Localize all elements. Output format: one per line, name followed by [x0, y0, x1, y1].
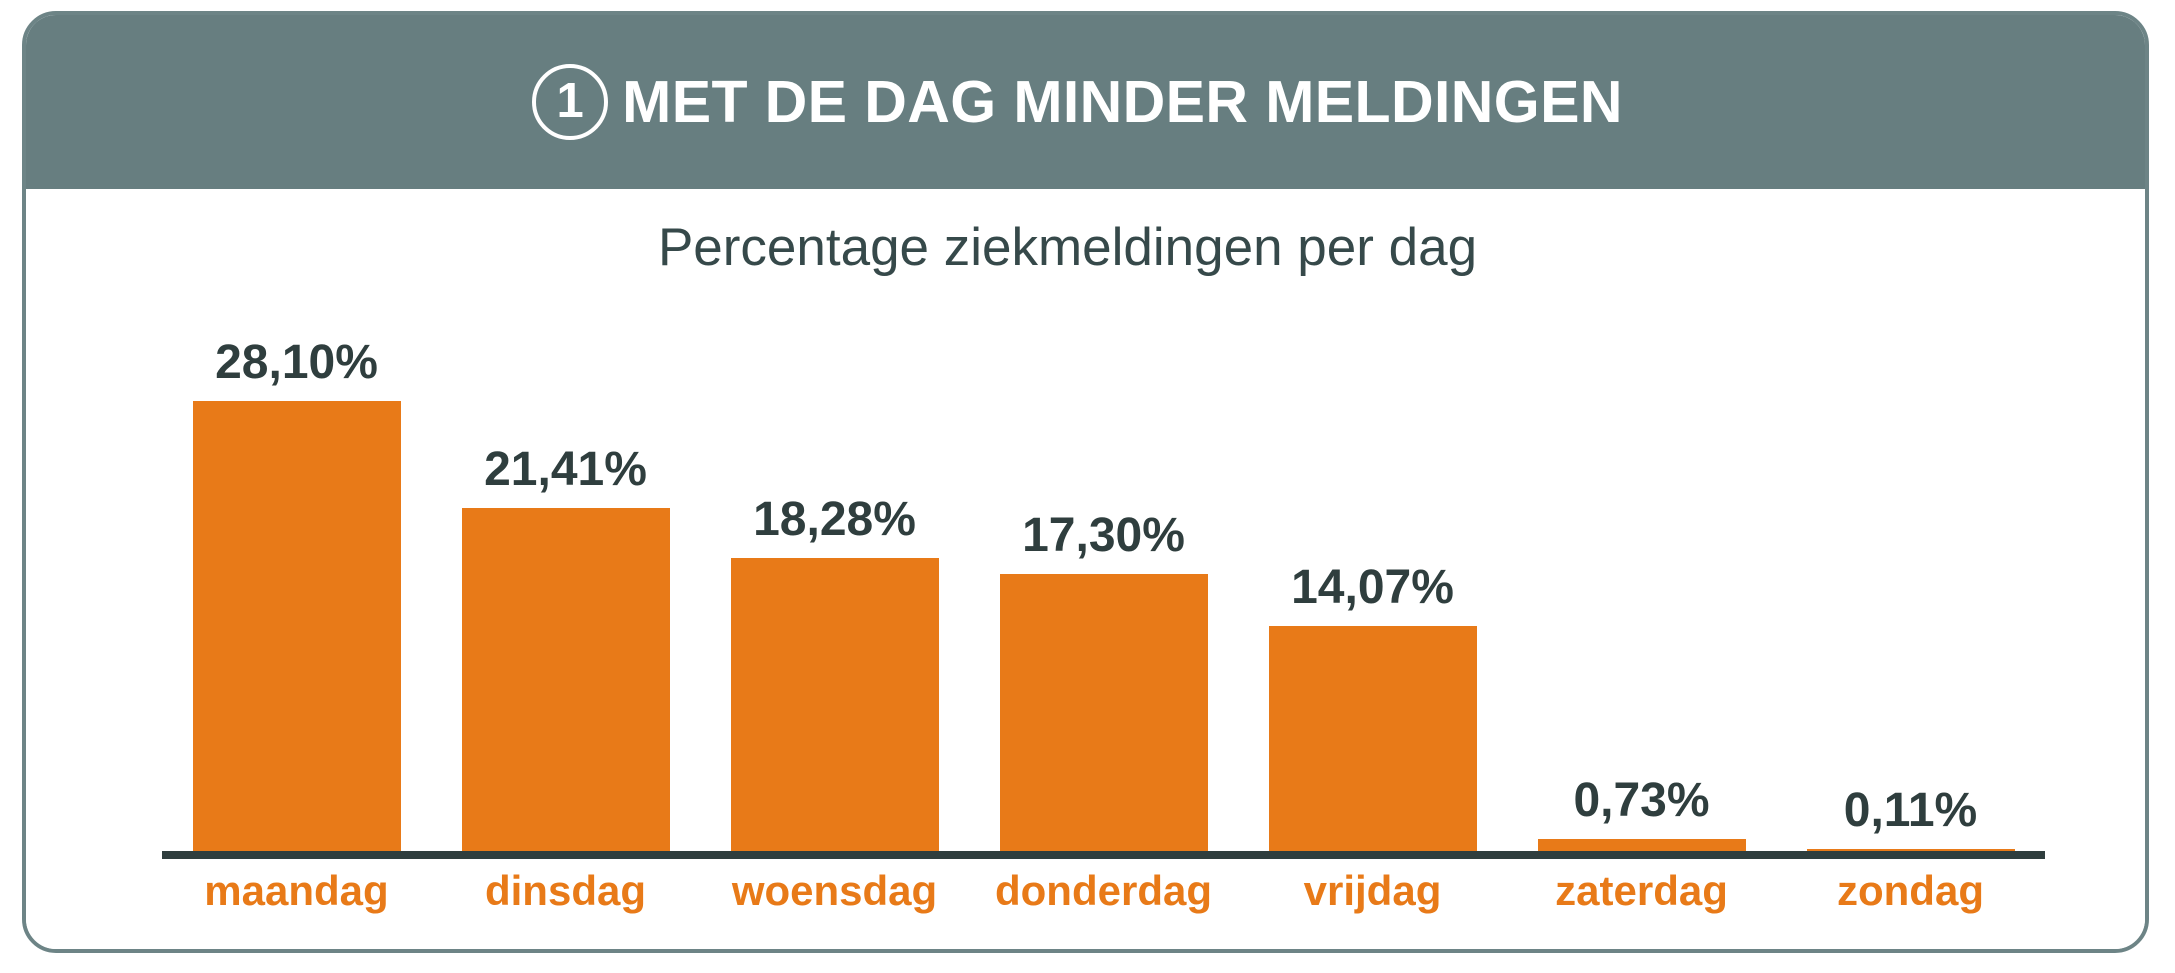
x-axis-label: zondag [1776, 859, 2045, 922]
bar-column: 0,11% [1776, 307, 2045, 851]
chart-panel: Percentage ziekmeldingen per dag 28,10%2… [26, 189, 2145, 949]
bar-value-label: 28,10% [215, 339, 378, 387]
x-axis-line [162, 851, 2045, 859]
bar-value-label: 17,30% [1022, 512, 1185, 560]
step-number-badge: 1 [532, 64, 608, 140]
bar-column: 28,10% [162, 307, 431, 851]
x-axis-label: donderdag [969, 859, 1238, 922]
step-number-label: 1 [557, 77, 584, 126]
bar-value-label: 14,07% [1291, 564, 1454, 612]
card-header: 1 MET DE DAG MINDER MELDINGEN [26, 15, 2145, 189]
header-title: MET DE DAG MINDER MELDINGEN [622, 68, 1623, 136]
chart-title: Percentage ziekmeldingen per dag [22, 217, 2127, 278]
bar-rect [1000, 574, 1208, 851]
bar-rect [462, 508, 670, 851]
bar-rect [1538, 839, 1746, 851]
x-axis-label: maandag [162, 859, 431, 922]
x-axis-label: zaterdag [1507, 859, 1776, 922]
bar-value-label: 21,41% [484, 446, 647, 494]
bar-column: 21,41% [431, 307, 700, 851]
bar-value-label: 0,11% [1844, 787, 1977, 835]
x-axis-label: vrijdag [1238, 859, 1507, 922]
bar-rect [731, 558, 939, 851]
bar-column: 14,07% [1238, 307, 1507, 851]
infographic-card: 1 MET DE DAG MINDER MELDINGEN Percentage… [22, 11, 2149, 953]
bar-series: 28,10%21,41%18,28%17,30%14,07%0,73%0,11% [162, 307, 2045, 851]
x-axis-label: woensdag [700, 859, 969, 922]
header-inner: 1 MET DE DAG MINDER MELDINGEN [532, 64, 1623, 140]
bar-value-label: 18,28% [753, 496, 916, 544]
bar-column: 0,73% [1507, 307, 1776, 851]
bar-value-label: 0,73% [1573, 777, 1709, 825]
x-axis-labels: maandagdinsdagwoensdagdonderdagvrijdagza… [162, 859, 2045, 922]
bar-rect [193, 401, 401, 851]
bar-column: 18,28% [700, 307, 969, 851]
bar-column: 17,30% [969, 307, 1238, 851]
bar-chart-plot: 28,10%21,41%18,28%17,30%14,07%0,73%0,11%… [162, 307, 2045, 922]
bar-rect [1269, 626, 1477, 851]
x-axis-label: dinsdag [431, 859, 700, 922]
